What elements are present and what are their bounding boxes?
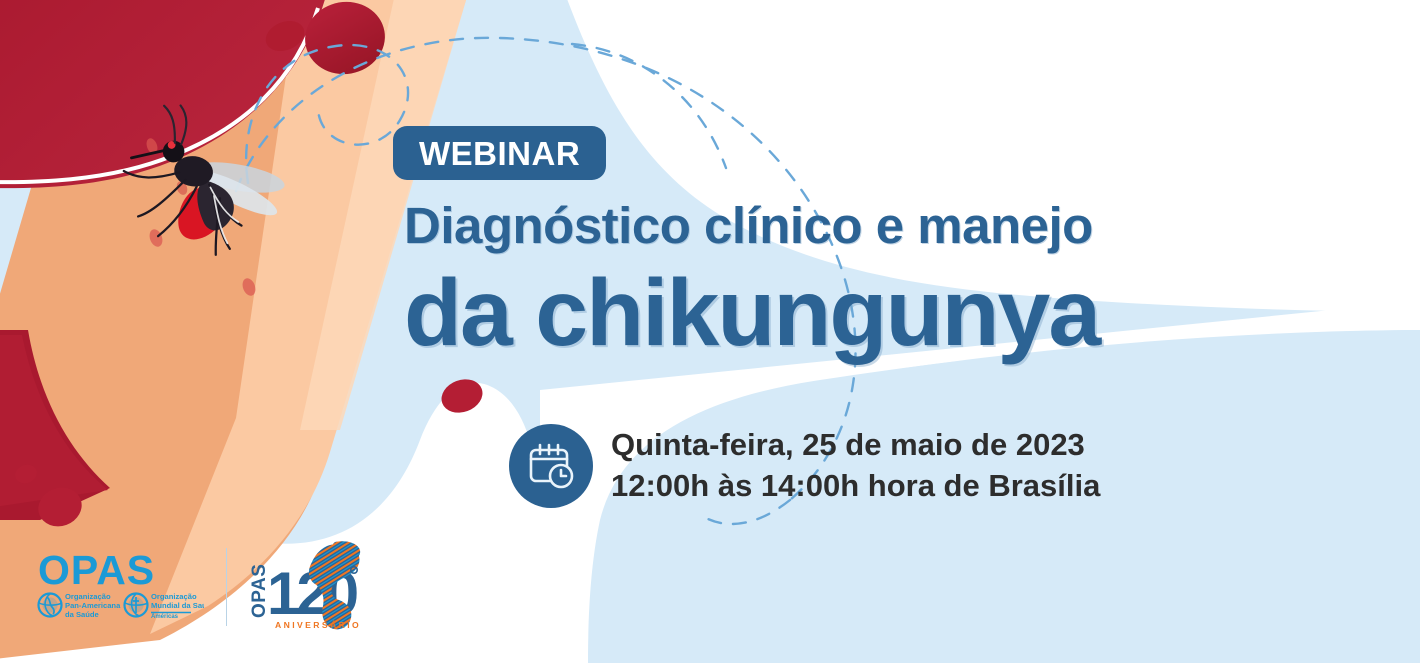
- event-date: Quinta-feira, 25 de maio de 2023: [611, 425, 1100, 466]
- opas-tagline-right-line-3: Américas: [151, 614, 179, 620]
- opas-tagline-right-line-1: Organização: [151, 592, 197, 601]
- event-datetime-text: Quinta-feira, 25 de maio de 2023 12:00h …: [611, 425, 1100, 507]
- webinar-banner: WEBINAR Diagnóstico clínico e manejo da …: [0, 0, 1420, 663]
- calendar-clock-glyph: [525, 440, 577, 492]
- opas-tagline-left-line-3: da Saúde: [65, 610, 99, 619]
- paho-globe-icon: [39, 594, 62, 617]
- opas-120-anniversary-logo: OPAS 120 ANIVERSÁRIO: [249, 540, 373, 634]
- event-time: 12:00h às 14:00h hora de Brasília: [611, 466, 1100, 507]
- logo-divider: [226, 548, 227, 626]
- page-title-line-1: Diagnóstico clínico e manejo: [404, 196, 1093, 255]
- opas-tagline-left-line-2: Pan-Americana: [65, 601, 121, 610]
- page-title-line-2: da chikungunya: [404, 264, 1099, 364]
- opas-wordmark: OPAS: [38, 547, 155, 593]
- event-datetime: Quinta-feira, 25 de maio de 2023 12:00h …: [509, 424, 1100, 508]
- calendar-clock-icon: [509, 424, 593, 508]
- who-emblem-icon: [125, 594, 148, 617]
- opas-logo: OPAS Organização Pan-Americana da Saúde: [36, 547, 204, 627]
- webinar-badge: WEBINAR: [393, 126, 606, 180]
- anniversary-caption: ANIVERSÁRIO: [275, 620, 361, 630]
- webinar-badge-label: WEBINAR: [419, 137, 580, 170]
- opas-tagline-left-line-1: Organização: [65, 592, 111, 601]
- logo-row: OPAS Organização Pan-Americana da Saúde: [36, 540, 373, 634]
- opas-tagline-right-line-2: Mundial da Saúde: [151, 601, 204, 610]
